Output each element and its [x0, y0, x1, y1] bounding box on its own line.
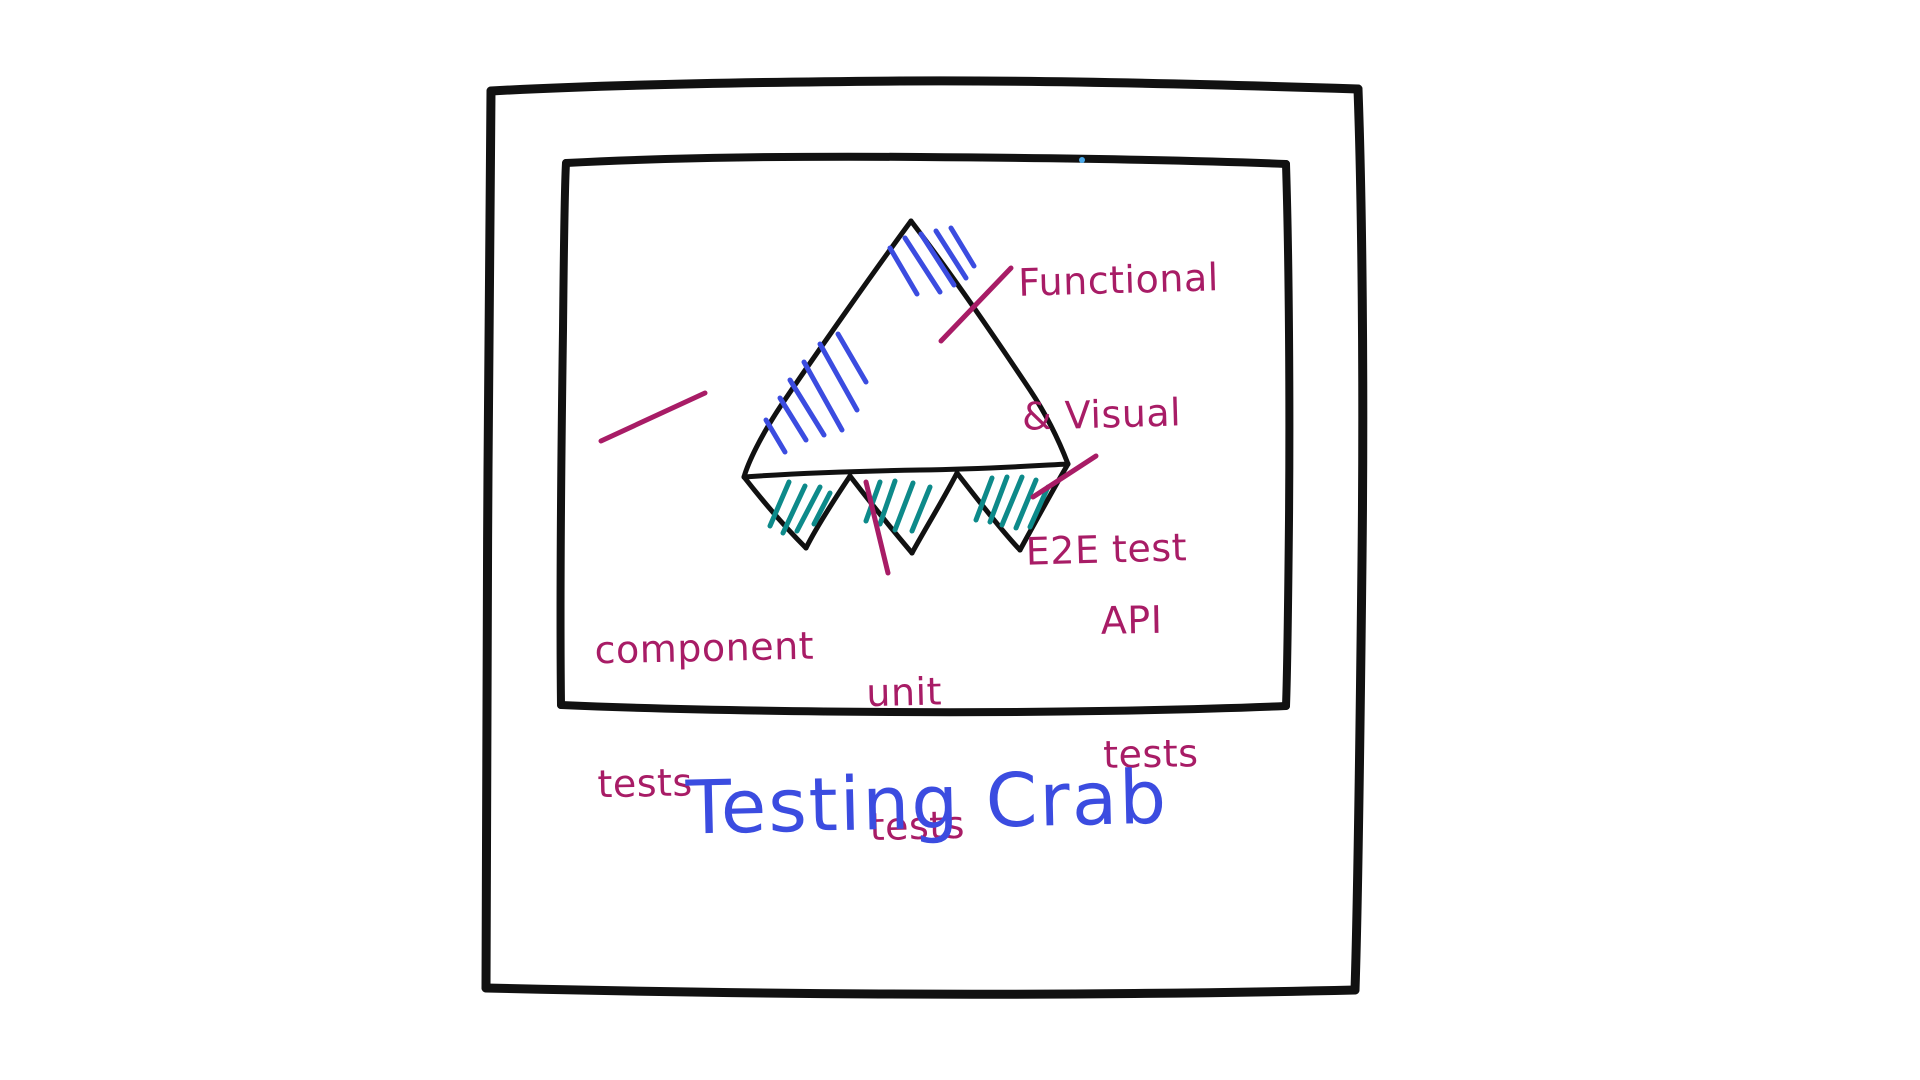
annotation-line: unit [866, 669, 962, 716]
sketch-canvas: Functional & Visual E2E test component t… [0, 0, 1920, 1080]
annotation-line: API [1100, 597, 1196, 643]
annotation-line: component [594, 623, 814, 672]
stray-ink-dot [1079, 157, 1085, 163]
annotation-line: & Visual [1021, 389, 1223, 439]
upper-right-blue-hatch [890, 228, 974, 294]
page-title: Testing Crab [685, 755, 1169, 853]
leader-component [601, 393, 705, 441]
annotation-line: Functional [1018, 255, 1220, 305]
